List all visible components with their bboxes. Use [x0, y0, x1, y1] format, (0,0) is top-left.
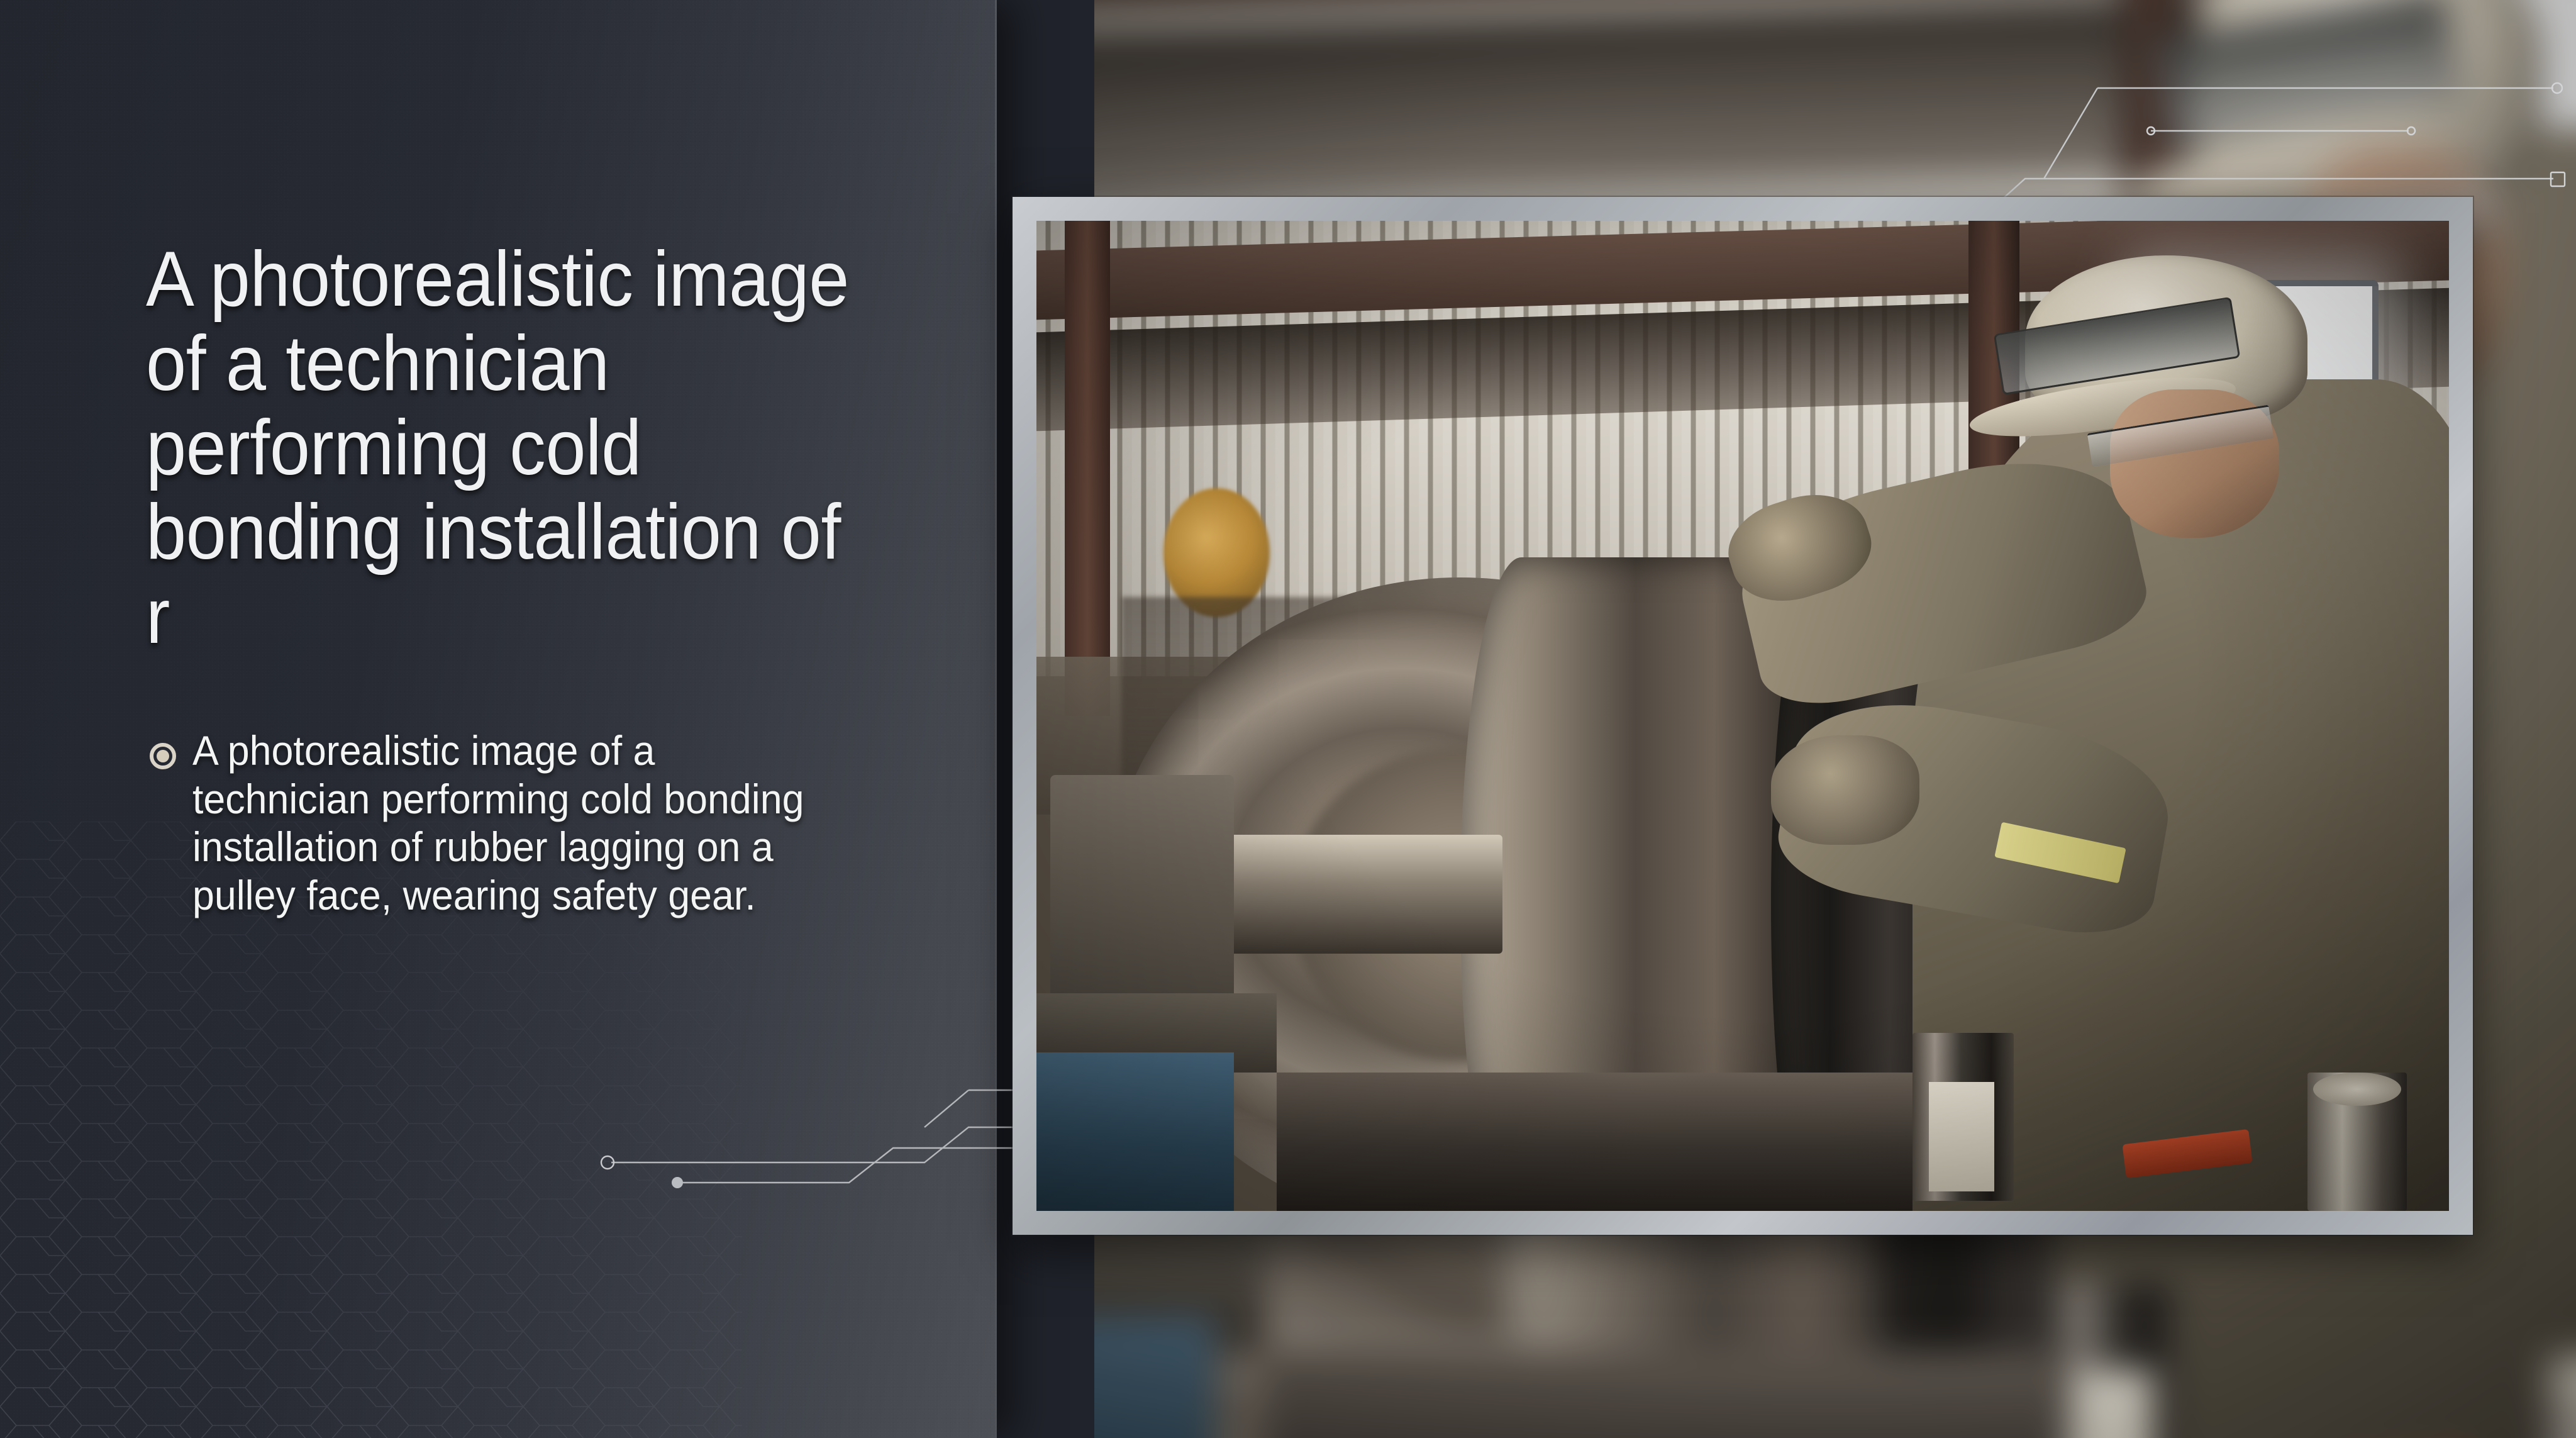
- ring-dot-bullet-icon: [150, 743, 176, 769]
- bullet-list-item: A photorealistic image of a technician p…: [150, 727, 854, 919]
- slide-canvas: A photorealistic image of a technician p…: [0, 0, 2576, 1438]
- page-title: A photorealistic image of a technician p…: [146, 238, 871, 659]
- panel-right-edge: [995, 0, 997, 1438]
- photo-vignette: [1036, 221, 2449, 1211]
- photo-image: [1036, 221, 2449, 1211]
- content-panel: [0, 0, 997, 1438]
- bullet-text: A photorealistic image of a technician p…: [192, 727, 821, 919]
- photo-frame: [1013, 197, 2473, 1235]
